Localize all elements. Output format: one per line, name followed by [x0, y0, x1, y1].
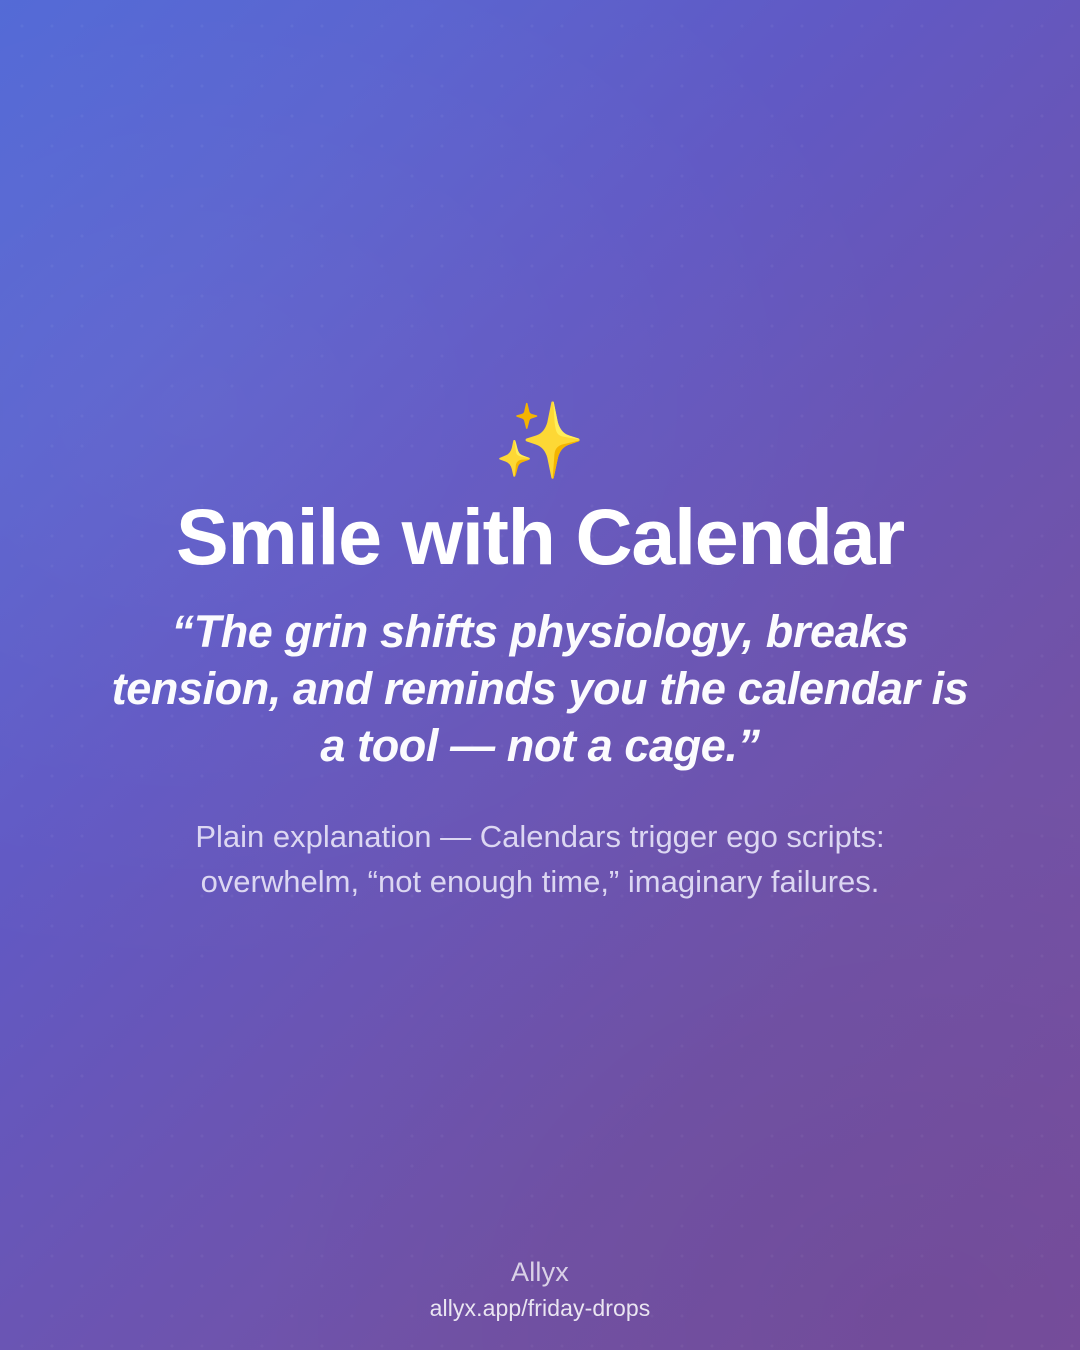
page-title: Smile with Calendar: [176, 490, 904, 578]
quote-text: “The grin shifts physiology, breaks tens…: [105, 578, 975, 774]
card-content: ✨ Smile with Calendar “The grin shifts p…: [0, 0, 1080, 1350]
explanation-text: Plain explanation — Calendars trigger eg…: [125, 774, 955, 905]
quote-card: ✨ Smile with Calendar “The grin shifts p…: [0, 0, 1080, 1350]
sparkles-icon: ✨: [494, 404, 586, 490]
card-footer: Allyx allyx.app/friday-drops: [0, 1256, 1080, 1324]
brand-url[interactable]: allyx.app/friday-drops: [0, 1290, 1080, 1324]
brand-name: Allyx: [0, 1256, 1080, 1290]
